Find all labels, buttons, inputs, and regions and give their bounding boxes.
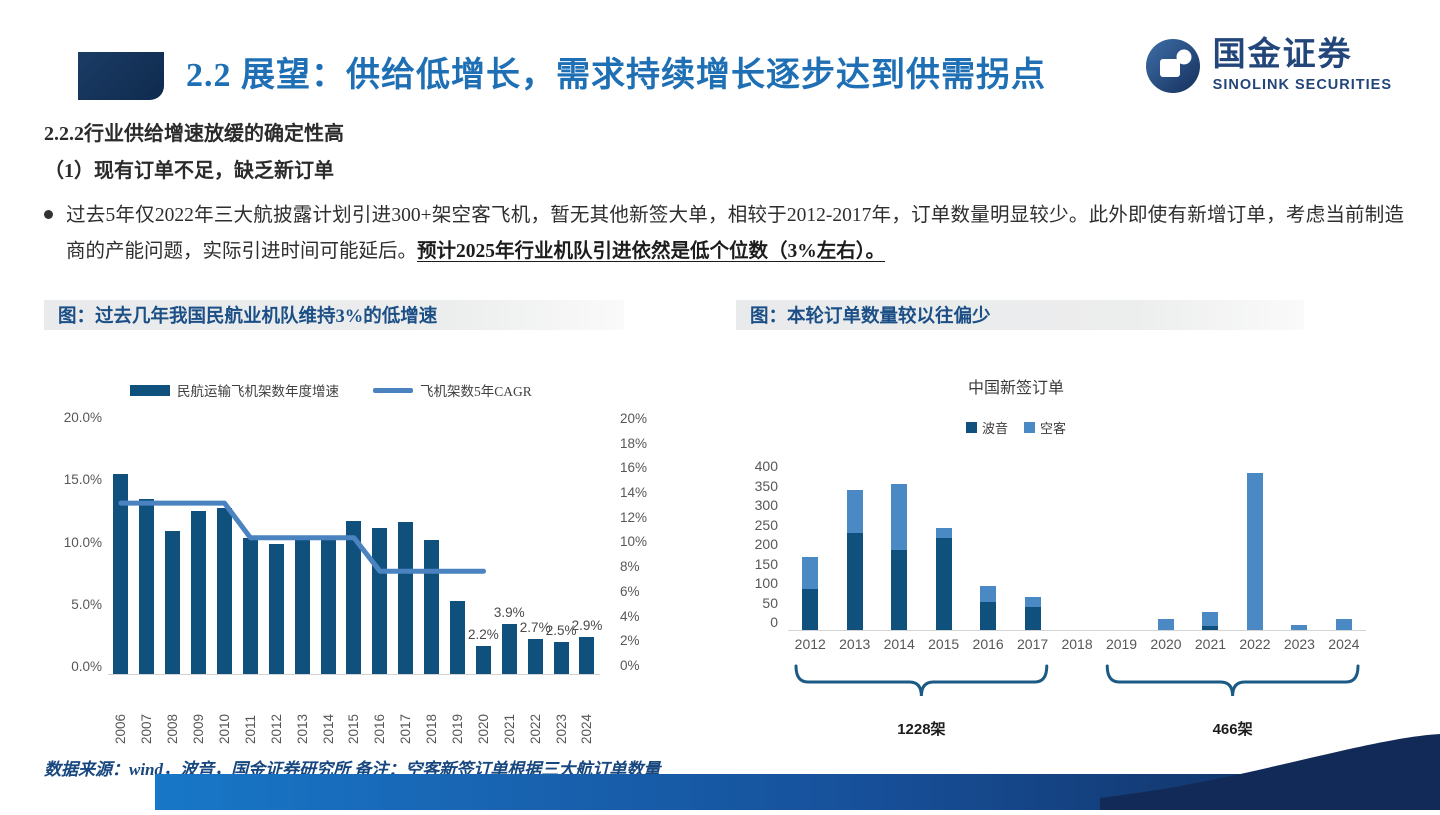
bullet-dot-icon <box>44 210 53 219</box>
cagr-line-path <box>121 503 484 571</box>
x-axis-tick-label: 2024 <box>579 678 594 744</box>
stacked-bar-column <box>1233 458 1277 630</box>
bar-segment-airbus <box>980 586 996 602</box>
y-axis-tick-primary: 5.0% <box>30 597 102 612</box>
fleet-growth-chart: 民航运输飞机架数年度增速 飞机架数5年CAGR 20.0%15.0%10.0%5… <box>20 360 680 750</box>
y-axis-tick: 350 <box>732 478 778 494</box>
x-axis-tick-label: 2006 <box>113 678 128 744</box>
x-axis-tick: 2022 <box>522 678 548 744</box>
y-axis-tick-primary: 0.0% <box>30 659 102 674</box>
y-axis-tick-primary: 10.0% <box>30 535 102 550</box>
x-axis-tick-label: 2008 <box>165 678 180 744</box>
stacked-bar-column <box>1144 458 1188 630</box>
legend-label-line: 飞机架数5年CAGR <box>420 380 532 400</box>
x-axis-tick-label: 2016 <box>966 636 1010 652</box>
x-axis-tick-label: 2012 <box>269 678 284 744</box>
x-axis-tick-label: 2021 <box>1188 636 1232 652</box>
x-axis-tick-label: 2020 <box>1144 636 1188 652</box>
x-axis-tick: 2016 <box>367 678 393 744</box>
legend-item-boeing: 波音 <box>966 418 1008 437</box>
legend-swatch-line-icon <box>373 388 413 393</box>
stacked-bar-column <box>1277 458 1321 630</box>
x-axis-tick-label: 2018 <box>1055 636 1099 652</box>
y-axis-tick: 0 <box>732 614 778 630</box>
y-axis-tick-secondary: 2% <box>620 633 668 648</box>
y-axis-tick-secondary: 0% <box>620 658 668 673</box>
y-axis-tick-primary: 15.0% <box>30 472 102 487</box>
slide-header: 2.2 展望：供给低增长，需求持续增长逐步达到供需拐点 国金证券 SINOLIN… <box>0 0 1440 118</box>
x-axis-tick-label: 2019 <box>1099 636 1143 652</box>
stacked-bar-column <box>966 458 1010 630</box>
x-axis-tick: 2023 <box>548 678 574 744</box>
x-axis-tick: 2011 <box>237 678 263 744</box>
stacked-bar-column <box>1055 458 1099 630</box>
x-axis-tick: 2007 <box>134 678 160 744</box>
stacked-bar-column <box>832 458 876 630</box>
title-accent-block <box>78 52 164 100</box>
x-axis-tick: 2010 <box>212 678 238 744</box>
x-axis-tick-label: 2015 <box>921 636 965 652</box>
x-axis-tick-label: 2020 <box>476 678 491 744</box>
x-axis-tick: 2024 <box>574 678 600 744</box>
y-axis-tick: 250 <box>732 517 778 533</box>
stacked-bar-column <box>788 458 832 630</box>
y-axis-tick-secondary: 6% <box>620 584 668 599</box>
x-axis-tick-label: 2014 <box>877 636 921 652</box>
stacked-bar-column <box>921 458 965 630</box>
bar-segment-boeing <box>891 550 907 630</box>
bar-segment-airbus <box>1202 612 1218 626</box>
x-axis-tick-label: 2022 <box>1233 636 1277 652</box>
left-chart-plot-area: 2.2%3.9%2.7%2.5%2.9% <box>108 417 600 674</box>
chart-caption-left: 图：过去几年我国民航业机队维持3%的低增速 <box>44 300 624 330</box>
bar-segment-boeing <box>980 602 996 630</box>
legend-item-bar: 民航运输飞机架数年度增速 <box>130 380 339 400</box>
y-axis-tick: 50 <box>732 595 778 611</box>
stacked-bar-column <box>1099 458 1143 630</box>
body-paragraph-block: 过去5年仅2022年三大航披露计划引进300+架空客飞机，暂无其他新签大单，相较… <box>44 198 1404 270</box>
brace-label: 1228架 <box>897 718 945 739</box>
bar-segment-airbus <box>1025 597 1041 607</box>
y-axis-tick-secondary: 4% <box>620 609 668 624</box>
x-axis-tick-label: 2007 <box>139 678 154 744</box>
legend-label-airbus: 空客 <box>1040 418 1066 437</box>
legend-label-boeing: 波音 <box>982 418 1008 437</box>
legend-item-airbus: 空客 <box>1024 418 1066 437</box>
stacked-bar-column <box>1188 458 1232 630</box>
x-axis-tick-label: 2021 <box>502 678 517 744</box>
left-chart-y-axis-primary: 20.0%15.0%10.0%5.0%0.0% <box>30 410 102 674</box>
bar-segment-airbus <box>802 557 818 589</box>
new-orders-chart: 中国新签订单 波音 空客 400350300250200150100500 20… <box>716 360 1416 760</box>
x-axis-tick: 2008 <box>160 678 186 744</box>
bar-segment-airbus <box>891 484 907 551</box>
left-chart-baseline <box>108 674 600 675</box>
x-axis-tick-label: 2022 <box>528 678 543 744</box>
bar-segment-boeing <box>936 538 952 630</box>
x-axis-tick: 2012 <box>263 678 289 744</box>
legend-swatch-boeing-icon <box>966 422 977 433</box>
stacked-bar-column <box>1010 458 1054 630</box>
sinolink-logo-icon <box>1145 38 1201 94</box>
x-axis-tick-label: 2017 <box>398 678 413 744</box>
chart-legend-right: 波音 空客 <box>716 418 1316 437</box>
bar-segment-airbus <box>847 490 863 533</box>
right-chart-baseline <box>788 630 1366 631</box>
x-axis-tick: 2018 <box>419 678 445 744</box>
y-axis-tick-secondary: 10% <box>620 534 668 549</box>
right-chart-bars <box>788 458 1366 630</box>
x-axis-tick-label: 2011 <box>243 678 258 744</box>
x-axis-tick: 2019 <box>445 678 471 744</box>
x-axis-tick: 2020 <box>470 678 496 744</box>
y-axis-tick-primary: 20.0% <box>30 410 102 425</box>
chart-legend-left: 民航运输飞机架数年度增速 飞机架数5年CAGR <box>130 380 532 400</box>
x-axis-tick: 2014 <box>315 678 341 744</box>
subhead-level-2: （1）现有订单不足，缺乏新订单 <box>44 154 334 183</box>
y-axis-tick: 400 <box>732 458 778 474</box>
x-axis-tick: 2015 <box>341 678 367 744</box>
bar-segment-boeing <box>847 533 863 630</box>
x-axis-tick: 2006 <box>108 678 134 744</box>
brace-icon <box>1107 666 1358 696</box>
x-axis-tick-label: 2024 <box>1322 636 1366 652</box>
logo-text-chinese: 国金证券 <box>1213 39 1392 72</box>
brace-shapes <box>788 660 1366 720</box>
x-axis-tick-label: 2012 <box>788 636 832 652</box>
y-axis-tick: 150 <box>732 556 778 572</box>
x-axis-tick: 2021 <box>496 678 522 744</box>
y-axis-tick: 300 <box>732 497 778 513</box>
bar-segment-boeing <box>1025 607 1041 630</box>
bar-segment-boeing <box>802 589 818 630</box>
x-axis-tick-label: 2014 <box>321 678 336 744</box>
y-axis-tick: 200 <box>732 536 778 552</box>
page-title: 2.2 展望：供给低增长，需求持续增长逐步达到供需拐点 <box>186 47 1046 96</box>
y-axis-tick-secondary: 8% <box>620 559 668 574</box>
bar-segment-airbus <box>1158 619 1174 630</box>
legend-swatch-airbus-icon <box>1024 422 1035 433</box>
left-chart-x-axis: 2006200720082009201020112012201320142015… <box>108 678 600 744</box>
y-axis-tick-secondary: 12% <box>620 510 668 525</box>
x-axis-tick-label: 2009 <box>191 678 206 744</box>
bar-segment-airbus <box>936 528 952 539</box>
chart-caption-right: 图：本轮订单数量较以往偏少 <box>736 300 1304 330</box>
x-axis-tick: 2017 <box>393 678 419 744</box>
y-axis-tick-secondary: 18% <box>620 436 668 451</box>
y-axis-tick-secondary: 16% <box>620 460 668 475</box>
left-chart-y-axis-secondary: 20%18%16%14%12%10%8%6%4%2%0% <box>620 411 668 673</box>
legend-swatch-bar-icon <box>130 385 170 396</box>
x-axis-tick-label: 2017 <box>1010 636 1054 652</box>
x-axis-tick-label: 2016 <box>372 678 387 744</box>
x-axis-tick-label: 2019 <box>450 678 465 744</box>
y-axis-tick-secondary: 20% <box>620 411 668 426</box>
right-chart-y-axis: 400350300250200150100500 <box>732 458 778 630</box>
stacked-bar-column <box>877 458 921 630</box>
right-chart-plot-area <box>788 458 1366 630</box>
left-chart-cagr-line <box>108 417 600 674</box>
body-paragraph: 过去5年仅2022年三大航披露计划引进300+架空客飞机，暂无其他新签大单，相较… <box>66 198 1404 270</box>
x-axis-tick-label: 2013 <box>832 636 876 652</box>
x-axis-tick-label: 2010 <box>217 678 232 744</box>
paragraph-emphasis: 预计2025年行业机队引进依然是低个位数（3%左右）。 <box>417 241 885 262</box>
stacked-bar-column <box>1322 458 1366 630</box>
bar-segment-airbus <box>1247 473 1263 630</box>
company-logo: 国金证券 SINOLINK SECURITIES <box>1145 38 1392 94</box>
x-axis-tick: 2009 <box>186 678 212 744</box>
right-chart-title: 中国新签订单 <box>716 374 1316 398</box>
x-axis-tick-label: 2013 <box>295 678 310 744</box>
y-axis-tick-secondary: 14% <box>620 485 668 500</box>
legend-label-bar: 民航运输飞机架数年度增速 <box>177 380 339 400</box>
subhead-level-1: 2.2.2行业供给增速放缓的确定性高 <box>44 117 344 146</box>
legend-item-line: 飞机架数5年CAGR <box>373 380 532 400</box>
x-axis-tick: 2013 <box>289 678 315 744</box>
bar-segment-airbus <box>1336 619 1352 630</box>
x-axis-tick-label: 2018 <box>424 678 439 744</box>
y-axis-tick: 100 <box>732 575 778 591</box>
x-axis-tick-label: 2023 <box>1277 636 1321 652</box>
footer-curve-decoration <box>1100 734 1440 810</box>
logo-text-english: SINOLINK SECURITIES <box>1213 77 1392 93</box>
x-axis-tick-label: 2023 <box>554 678 569 744</box>
right-chart-x-axis: 2012201320142015201620172018201920202021… <box>788 636 1366 652</box>
brace-icon <box>796 666 1047 696</box>
x-axis-tick-label: 2015 <box>346 678 361 744</box>
